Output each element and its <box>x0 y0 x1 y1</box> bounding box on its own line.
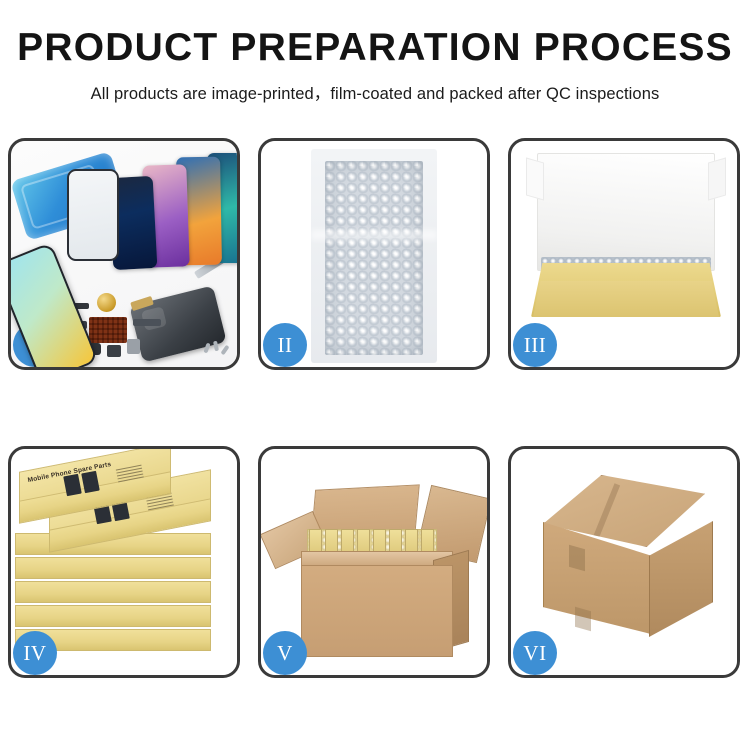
part-flex-8 <box>127 339 140 354</box>
phones-and-parts-image <box>11 141 237 367</box>
step-badge-6: VI <box>513 631 557 675</box>
stack-layer-4 <box>15 605 211 627</box>
step-panel-2: II <box>258 138 490 370</box>
shipping-carton-sealed <box>533 475 725 659</box>
screws-icon <box>205 341 231 359</box>
carton-label-patch-top <box>569 545 585 572</box>
page-title: PRODUCT PREPARATION PROCESS <box>0 28 750 69</box>
step-badge-2: II <box>263 323 307 367</box>
bubble-grid <box>325 161 423 355</box>
carton-right-face <box>649 521 713 637</box>
header: PRODUCT PREPARATION PROCESS All products… <box>0 0 750 104</box>
step-badge-5: V <box>263 631 307 675</box>
shipping-carton-open <box>287 489 467 657</box>
box-lid <box>537 153 715 271</box>
part-flex-2 <box>130 296 154 311</box>
part-flex-3 <box>133 319 161 326</box>
page-subtitle: All products are image-printed，film-coat… <box>0 80 750 104</box>
step-panel-4: Mobile Phone Spare Parts Mobile Phone Sp… <box>8 446 240 678</box>
carton-label-patch-bottom <box>575 607 591 632</box>
taptic-motor-icon <box>97 293 116 312</box>
box-front-panel <box>533 281 719 317</box>
process-steps-grid: I II III <box>8 138 742 678</box>
stack-layer-3 <box>15 581 211 603</box>
carton-tape-seam <box>590 483 620 546</box>
phone-lineup <box>111 153 237 271</box>
stack-layer-2 <box>15 557 211 579</box>
step-panel-5: V <box>258 446 490 678</box>
step-badge-3: III <box>513 323 557 367</box>
step-panel-6: VI <box>508 446 740 678</box>
part-flex-7 <box>107 345 121 357</box>
carton-front-panel <box>301 565 453 657</box>
step-panel-1: I <box>8 138 240 370</box>
step-badge-4: IV <box>13 631 57 675</box>
step-panel-3: III <box>508 138 740 370</box>
tempered-glass-icon <box>67 169 119 261</box>
bubble-pouch <box>311 149 437 363</box>
logic-board-icon <box>89 317 127 343</box>
product-preparation-infographic: PRODUCT PREPARATION PROCESS All products… <box>0 0 750 750</box>
pouch-highlight <box>311 230 437 240</box>
